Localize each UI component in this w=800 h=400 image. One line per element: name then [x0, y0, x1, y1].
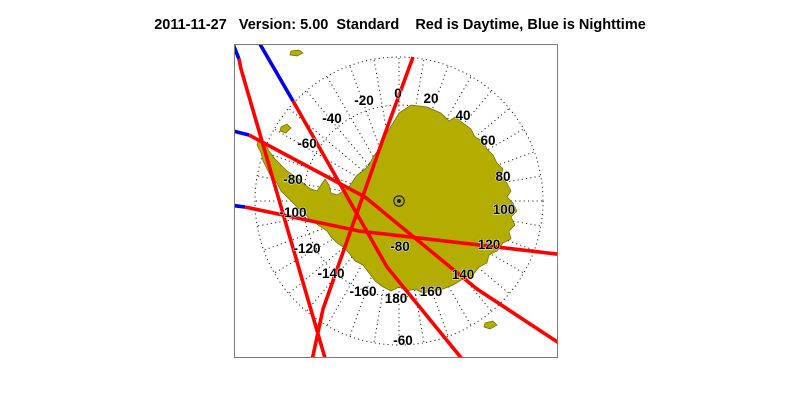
longitude-label-minus100: -100 — [279, 205, 306, 220]
map-plot-area: 0 20 40 60 80 100 120 140 160 180 -160 -… — [234, 44, 558, 358]
island-sub-2 — [280, 124, 291, 133]
longitude-label-140: 140 — [452, 267, 475, 282]
longitude-label-minus40: -40 — [322, 111, 342, 126]
track-4-nighttime — [235, 205, 245, 207]
longitude-label-minus60: -60 — [297, 136, 317, 151]
longitude-label-60: 60 — [480, 133, 495, 148]
track-2-nighttime — [257, 45, 293, 101]
figure-title: 2011-11-27 Version: 5.00 Standard Red is… — [0, 17, 800, 33]
longitude-label-minus20: -20 — [354, 93, 374, 108]
latitude-label-minus60: -60 — [393, 333, 413, 348]
island-sub-3 — [484, 321, 497, 329]
track-3-nighttime — [235, 130, 249, 135]
longitude-label-0: 0 — [394, 86, 402, 101]
longitude-label-160: 160 — [420, 284, 443, 299]
polar-stereographic-map: 0 20 40 60 80 100 120 140 160 180 -160 -… — [235, 45, 558, 358]
longitude-label-100: 100 — [493, 202, 516, 217]
longitude-label-180: 180 — [385, 291, 408, 306]
longitude-label-minus160: -160 — [349, 284, 376, 299]
longitude-label-minus120: -120 — [293, 241, 320, 256]
longitude-label-80: 80 — [495, 169, 510, 184]
track-1-nighttime — [235, 45, 239, 59]
pole-dot-icon — [397, 199, 401, 203]
longitude-label-minus140: -140 — [317, 266, 344, 281]
longitude-label-40: 40 — [455, 108, 470, 123]
longitude-label-20: 20 — [423, 91, 438, 106]
latitude-label-minus80: -80 — [390, 239, 410, 254]
longitude-label-120: 120 — [478, 237, 501, 252]
figure-canvas: 2011-11-27 Version: 5.00 Standard Red is… — [0, 0, 800, 400]
island-sub-1 — [290, 50, 303, 56]
longitude-label-minus80: -80 — [283, 172, 303, 187]
